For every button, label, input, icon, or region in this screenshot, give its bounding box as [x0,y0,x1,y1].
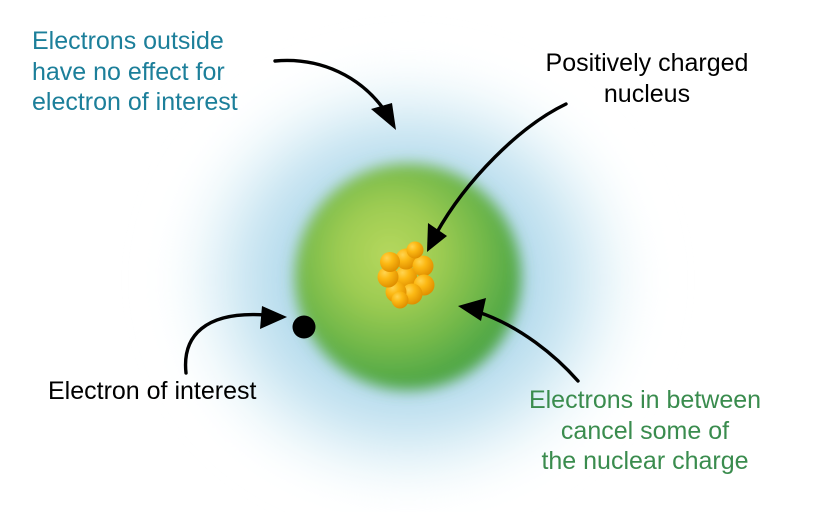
label-electron-of-interest: Electron of interest [48,376,256,407]
label-electrons-in-between: Electrons in between cancel some of the … [500,385,790,477]
proton-sphere [380,252,400,272]
label-electrons-outside: Electrons outside have no effect for ele… [32,26,238,118]
proton-sphere [413,256,434,277]
diagram-canvas: Electrons outside have no effect for ele… [0,0,814,512]
proton-sphere [392,292,409,309]
proton-sphere [407,242,424,259]
electron-of-interest-dot [293,316,316,339]
label-positively-charged-nucleus: Positively charged nucleus [512,48,782,109]
